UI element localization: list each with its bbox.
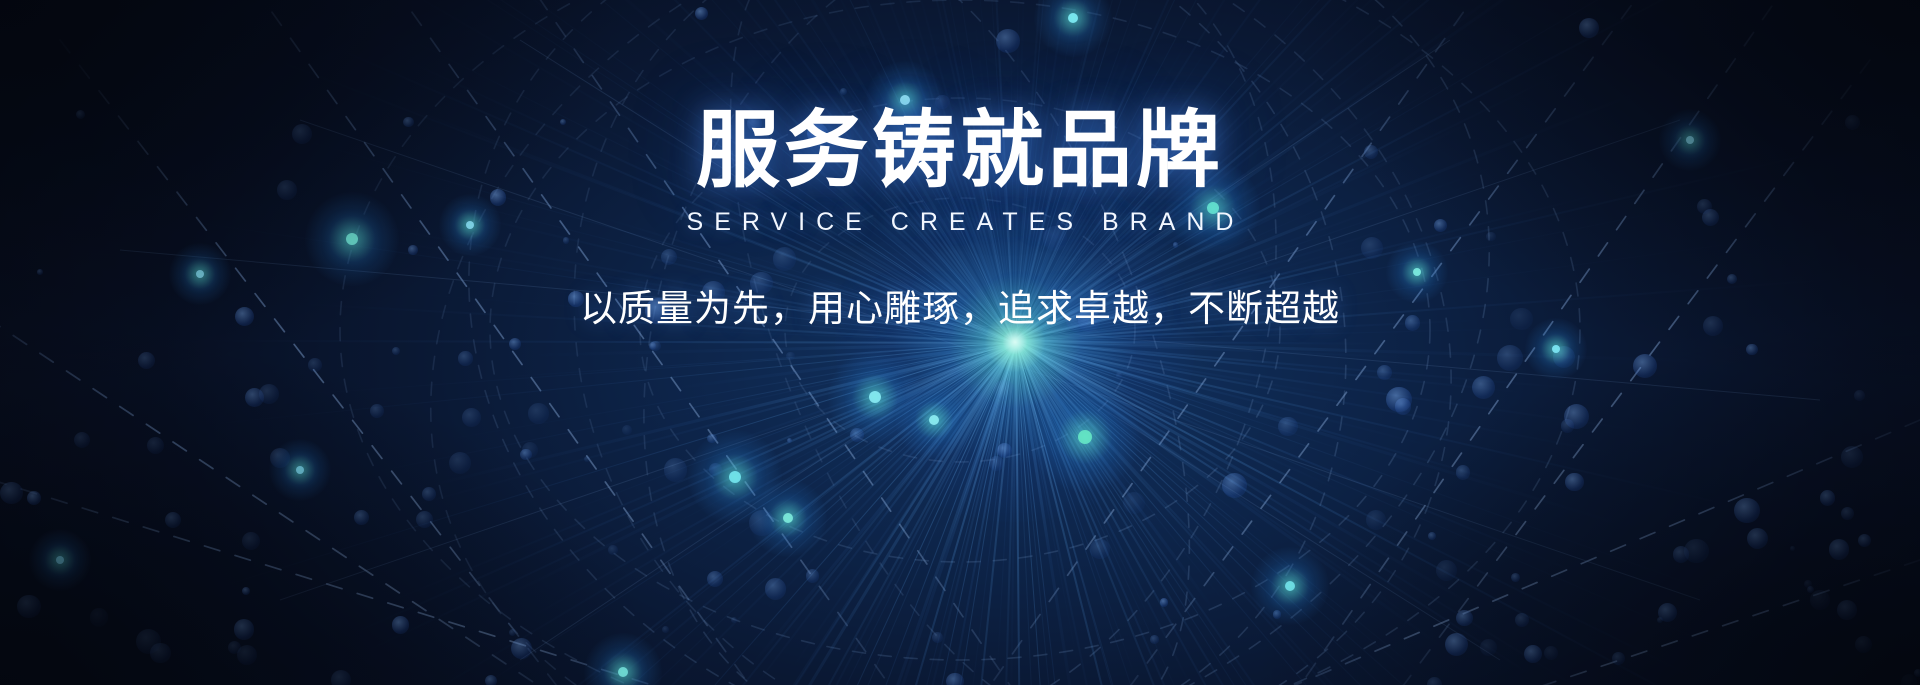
bokeh-particle [509, 629, 516, 636]
bokeh-particle [17, 595, 41, 619]
bokeh-particle [147, 437, 164, 454]
bokeh-particle [270, 448, 290, 468]
bokeh-particle [1837, 600, 1857, 620]
bokeh-particle [458, 351, 473, 366]
bokeh-particle [1829, 539, 1849, 559]
bokeh-particle [1673, 546, 1689, 562]
bokeh-particle [1810, 590, 1829, 609]
bokeh-particle [150, 643, 171, 664]
bokeh-particle [1565, 473, 1583, 491]
bokeh-particle [462, 408, 481, 427]
glow-spark [56, 556, 64, 564]
hero-banner: 服务铸就品牌 SERVICE CREATES BRAND 以质量为先，用心雕琢，… [0, 0, 1920, 685]
bokeh-particle [1858, 534, 1871, 547]
bokeh-particle [74, 432, 90, 448]
bokeh-particle [1428, 532, 1436, 540]
bokeh-particle [237, 645, 257, 665]
bokeh-particle [136, 629, 161, 654]
page-title: 服务铸就品牌 [0, 108, 1920, 192]
bokeh-particle [165, 512, 182, 529]
glow-spark [1552, 345, 1560, 353]
bokeh-particle [242, 587, 250, 595]
bokeh-particle [695, 7, 708, 20]
bokeh-particle [1807, 586, 1814, 593]
bokeh-particle [1564, 404, 1589, 429]
bokeh-particle [1820, 490, 1835, 505]
bokeh-particle [331, 670, 351, 685]
bokeh-particle [1901, 674, 1917, 685]
bokeh-particle [649, 342, 656, 349]
bokeh-particle [1790, 546, 1795, 551]
glow-spark [296, 466, 304, 474]
bokeh-particle [1747, 528, 1768, 549]
bokeh-particle [528, 403, 548, 423]
bokeh-particle [0, 482, 23, 505]
bokeh-particle [1511, 573, 1520, 582]
bokeh-particle [1273, 610, 1281, 618]
bokeh-particle [1497, 345, 1523, 371]
hero-text-block: 服务铸就品牌 SERVICE CREATES BRAND 以质量为先，用心雕琢，… [0, 108, 1920, 331]
bokeh-particle [1841, 446, 1863, 468]
page-tagline: 以质量为先，用心雕琢，追求卓越，不断超越 [0, 287, 1920, 331]
bokeh-particle [228, 641, 241, 654]
bokeh-particle [1804, 580, 1812, 588]
bokeh-particle [392, 347, 400, 355]
bokeh-particle [234, 619, 254, 639]
bokeh-particle [1914, 669, 1920, 677]
bokeh-particle [259, 384, 279, 404]
bokeh-particle [138, 352, 155, 369]
bokeh-particle [308, 358, 322, 372]
bokeh-particle [662, 626, 669, 633]
bokeh-particle [27, 491, 41, 505]
bokeh-particle [1746, 344, 1757, 355]
bokeh-particle [1854, 390, 1865, 401]
page-subtitle-english: SERVICE CREATES BRAND [0, 210, 1920, 235]
bokeh-particle [522, 442, 538, 458]
bokeh-particle [242, 532, 260, 550]
bokeh-particle [1841, 507, 1854, 520]
